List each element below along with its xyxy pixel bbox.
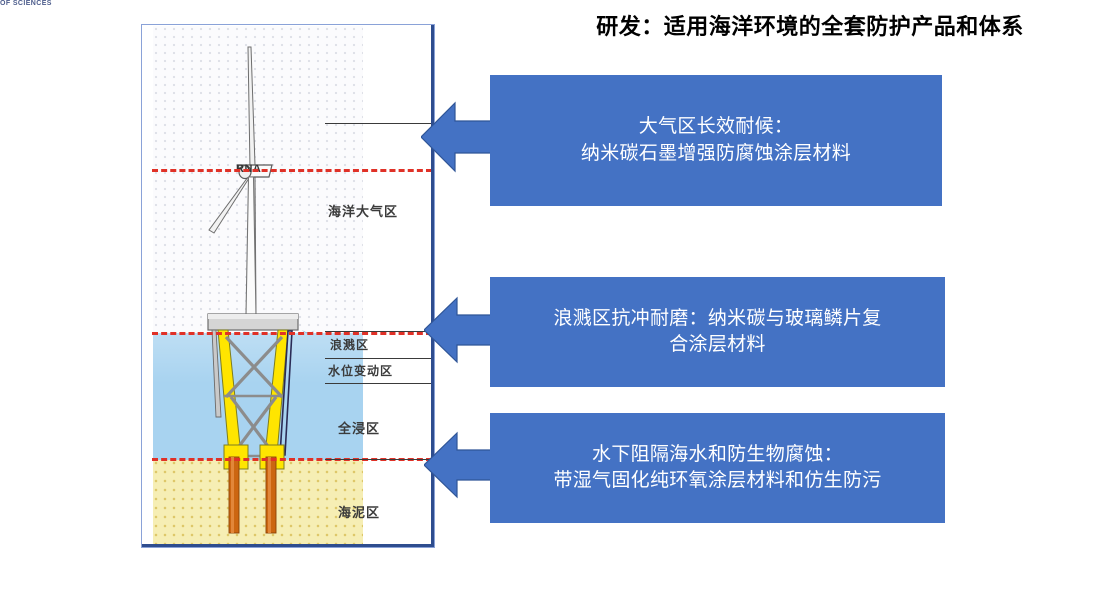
callout-atmospheric-text: 大气区长效耐候： 纳米碳石墨增强防腐蚀涂层材料	[567, 114, 865, 166]
arrow-left-atmospheric	[421, 100, 493, 174]
logo-text: OF SCIENCES	[0, 0, 58, 10]
zone-label-submerged: 全浸区	[338, 418, 380, 437]
callout-splash-zone[interactable]: 浪溅区抗冲耐磨：纳米碳与玻璃鳞片复 合涂层材料	[490, 277, 945, 387]
zone-label-marine-atmosphere: 海洋大气区	[328, 201, 398, 220]
atmosphere-upper-boundary-line	[152, 169, 432, 172]
callout-splash-text: 浪溅区抗冲耐磨：纳米碳与玻璃鳞片复 合涂层材料	[539, 306, 895, 358]
leader-line-5	[325, 459, 432, 460]
leader-line-3	[325, 358, 432, 359]
callout-3-line-1: 水下阻隔海水和防生物腐蚀：	[553, 442, 881, 468]
callout-2-line-2: 合涂层材料	[553, 332, 881, 358]
callout-underwater-zone[interactable]: 水下阻隔海水和防生物腐蚀： 带湿气固化纯环氧涂层材料和仿生防污	[490, 413, 945, 523]
callout-1-line-2: 纳米碳石墨增强防腐蚀涂层材料	[581, 141, 851, 167]
institution-logo: OF SCIENCES	[0, 0, 58, 13]
arrow-left-underwater	[424, 430, 493, 500]
callout-atmospheric-zone[interactable]: 大气区长效耐候： 纳米碳石墨增强防腐蚀涂层材料	[490, 75, 942, 206]
offshore-wind-corrosion-zone-diagram: RNA 海洋大气区 浪溅区 水位变动区 全浸区 海泥区	[141, 24, 435, 548]
page-title: 研发：适用海洋环境的全套防护产品和体系	[560, 9, 1060, 41]
zone-label-tidal: 水位变动区	[328, 362, 393, 379]
callout-1-line-1: 大气区长效耐候：	[581, 114, 851, 140]
callout-2-line-1: 浪溅区抗冲耐磨：纳米碳与玻璃鳞片复	[553, 306, 881, 332]
zone-label-mud: 海泥区	[338, 502, 380, 521]
leader-line-4	[325, 383, 432, 384]
leader-line-2	[325, 331, 432, 332]
slide-canvas: OF SCIENCES 研发：适用海洋环境的全套防护产品和体系	[0, 0, 1105, 590]
callout-3-line-2: 带湿气固化纯环氧涂层材料和仿生防污	[553, 468, 881, 494]
zone-label-splash: 浪溅区	[330, 336, 369, 353]
diagram-bottom-border	[142, 544, 434, 547]
wind-turbine-structure: RNA	[152, 25, 362, 543]
arrow-left-splash	[424, 295, 493, 365]
waterline-boundary-line	[152, 332, 432, 335]
callout-underwater-text: 水下阻隔海水和防生物腐蚀： 带湿气固化纯环氧涂层材料和仿生防污	[539, 442, 895, 494]
leader-line-1	[325, 123, 432, 124]
